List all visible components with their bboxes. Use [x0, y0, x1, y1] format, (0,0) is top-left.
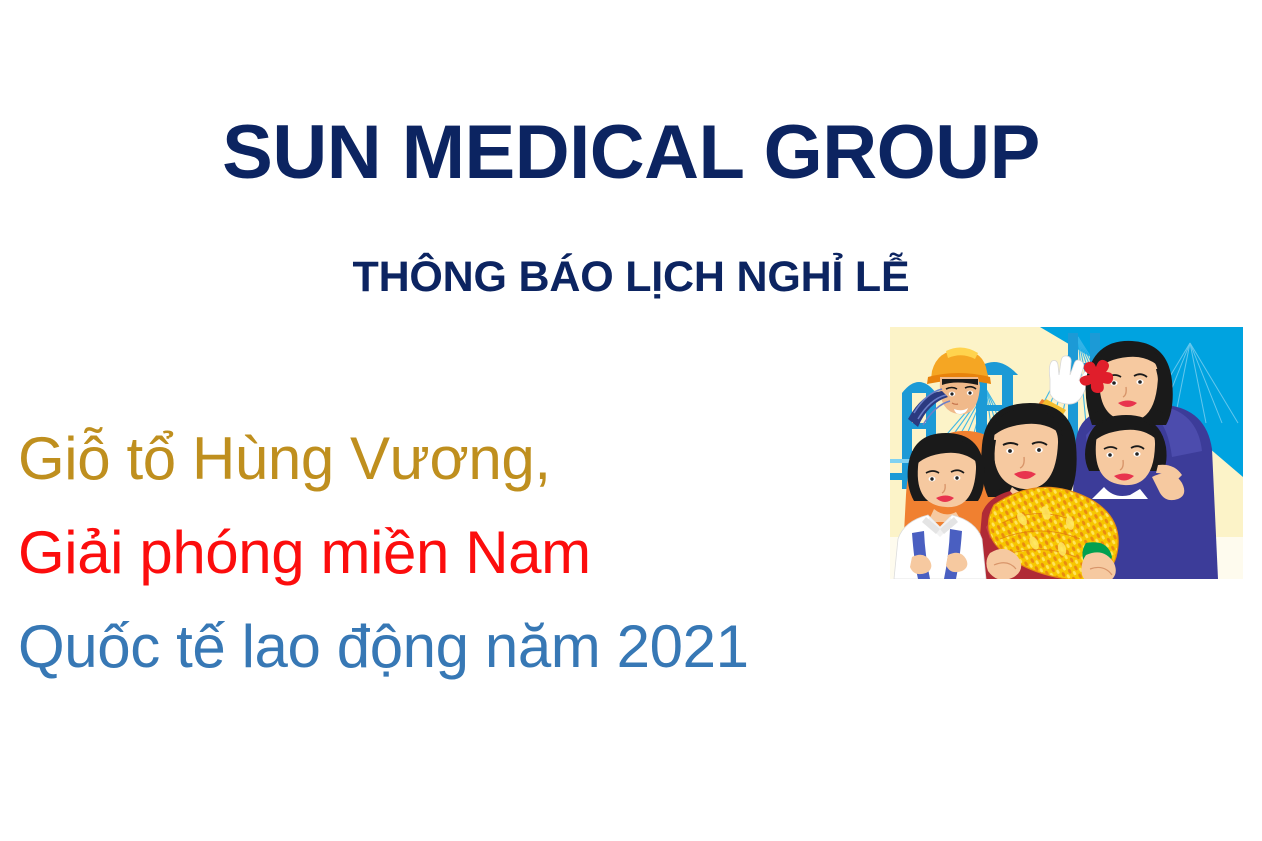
holiday-line-reunification-day: Giải phóng miền Nam [18, 506, 888, 600]
holiday-line-labour-day: Quốc tế lao động năm 2021 [18, 600, 888, 694]
poster-canvas: SUN MEDICAL GROUP THÔNG BÁO LỊCH NGHỈ LỄ… [0, 0, 1262, 841]
notice-subtitle: THÔNG BÁO LỊCH NGHỈ LỄ [0, 249, 1262, 305]
vietnamese-workers-poster-image [890, 327, 1243, 579]
holiday-line-hung-kings: Giỗ tổ Hùng Vương, [18, 412, 888, 506]
company-title: SUN MEDICAL GROUP [0, 108, 1262, 198]
illustration-content [890, 327, 1243, 579]
holiday-list: Giỗ tổ Hùng Vương, Giải phóng miền Nam Q… [18, 412, 888, 694]
poster-illustration-svg [890, 327, 1243, 579]
